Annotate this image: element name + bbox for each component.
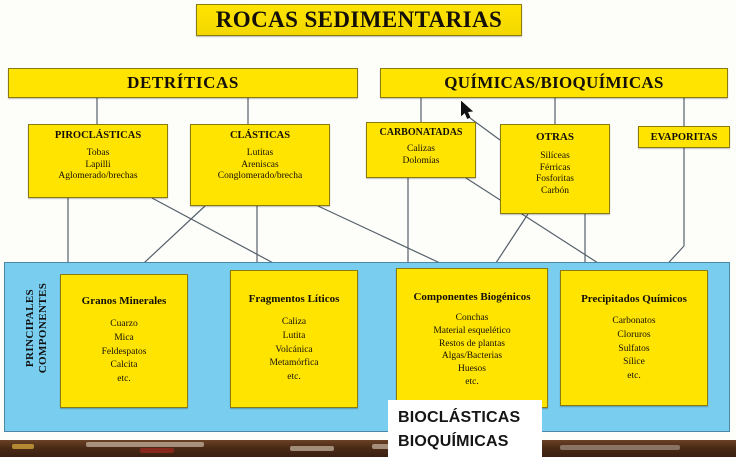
list-item: Volcánica: [231, 344, 357, 358]
list-item: Sulfatos: [561, 343, 707, 357]
node-granos-minerales-header: Granos Minerales: [61, 295, 187, 307]
list-item: Tobas: [29, 148, 167, 160]
list-item: Material esquelético: [397, 325, 547, 338]
panel-side-label-line2: COMPONENTES: [37, 264, 50, 392]
list-item: Calizas: [367, 144, 475, 156]
node-precipitados-quimicos[interactable]: Precipitados Químicos Carbonatos Cloruro…: [560, 270, 708, 406]
node-otras[interactable]: OTRAS Silíceas Férricas Fosforitas Carbó…: [500, 124, 610, 214]
diagram-title-box: ROCAS SEDIMENTARIAS: [196, 4, 522, 36]
node-otras-header: OTRAS: [501, 131, 609, 143]
list-item: Feldespatos: [61, 346, 187, 360]
mouse-cursor-arrow: [461, 101, 475, 121]
node-detriticas[interactable]: DETRÍTICAS: [8, 68, 358, 98]
list-item: Restos de plantas: [397, 338, 547, 351]
node-componentes-biogenicos[interactable]: Componentes Biogénicos Conchas Material …: [396, 268, 548, 408]
node-otras-items: Silíceas Férricas Fosforitas Carbón: [501, 151, 609, 197]
node-carbonatadas[interactable]: CARBONATADAS Calizas Dolomías: [366, 122, 476, 178]
node-fragmentos-liticos-items: Caliza Lutita Volcánica Metamórfica etc.: [231, 316, 357, 385]
node-fragmentos-liticos-header: Fragmentos Líticos: [231, 293, 357, 305]
node-carbonatadas-header: CARBONATADAS: [367, 127, 475, 138]
node-fragmentos-liticos[interactable]: Fragmentos Líticos Caliza Lutita Volcáni…: [230, 270, 358, 408]
node-detriticas-label: DETRÍTICAS: [127, 73, 239, 93]
list-item: etc.: [561, 370, 707, 384]
callout-bioclasticas-bioquimicas: BIOCLÁSTICAS BIOQUÍMICAS: [388, 400, 542, 457]
node-clasticas[interactable]: CLÁSTICAS Lutitas Areniscas Conglomerado…: [190, 124, 330, 206]
node-piroclasticas-items: Tobas Lapilli Aglomerado/brechas: [29, 148, 167, 183]
list-item: Conchas: [397, 312, 547, 325]
list-item: Lutitas: [191, 148, 329, 160]
list-item: Sílice: [561, 356, 707, 370]
list-item: etc.: [397, 376, 547, 389]
node-precipitados-quimicos-items: Carbonatos Cloruros Sulfatos Sílice etc.: [561, 315, 707, 384]
list-item: Silíceas: [501, 151, 609, 163]
list-item: Cloruros: [561, 329, 707, 343]
node-granos-minerales[interactable]: Granos Minerales Cuarzo Mica Feldespatos…: [60, 274, 188, 408]
node-quimicas-bioquimicas-label: QUÍMICAS/BIOQUÍMICAS: [444, 73, 663, 93]
list-item: Fosforitas: [501, 174, 609, 186]
node-evaporitas[interactable]: EVAPORITAS: [638, 126, 730, 148]
list-item: Metamórfica: [231, 357, 357, 371]
desk-strip: [0, 440, 736, 457]
list-item: etc.: [61, 373, 187, 387]
node-granos-minerales-items: Cuarzo Mica Feldespatos Calcita etc.: [61, 318, 187, 387]
node-clasticas-header: CLÁSTICAS: [191, 130, 329, 141]
list-item: Conglomerado/brecha: [191, 171, 329, 183]
node-clasticas-items: Lutitas Areniscas Conglomerado/brecha: [191, 148, 329, 183]
list-item: Mica: [61, 332, 187, 346]
callout-line2: BIOQUÍMICAS: [398, 430, 542, 454]
callout-line1: BIOCLÁSTICAS: [398, 406, 542, 430]
list-item: Carbón: [501, 186, 609, 198]
list-item: Areniscas: [191, 160, 329, 172]
node-piroclasticas[interactable]: PIROCLÁSTICAS Tobas Lapilli Aglomerado/b…: [28, 124, 168, 198]
node-piroclasticas-header: PIROCLÁSTICAS: [29, 130, 167, 141]
list-item: Caliza: [231, 316, 357, 330]
list-item: etc.: [231, 371, 357, 385]
panel-side-label-line1: PRINCIPALES: [24, 264, 37, 392]
node-componentes-biogenicos-header: Componentes Biogénicos: [397, 291, 547, 303]
list-item: Aglomerado/brechas: [29, 171, 167, 183]
list-item: Lapilli: [29, 160, 167, 172]
list-item: Lutita: [231, 330, 357, 344]
list-item: Huesos: [397, 363, 547, 376]
node-precipitados-quimicos-header: Precipitados Químicos: [561, 293, 707, 305]
list-item: Algas/Bacterias: [397, 350, 547, 363]
list-item: Cuarzo: [61, 318, 187, 332]
node-evaporitas-header: EVAPORITAS: [651, 132, 718, 143]
node-carbonatadas-items: Calizas Dolomías: [367, 144, 475, 167]
panel-side-label: PRINCIPALES COMPONENTES: [24, 264, 50, 392]
node-componentes-biogenicos-items: Conchas Material esquelético Restos de p…: [397, 312, 547, 389]
list-item: Calcita: [61, 359, 187, 373]
list-item: Carbonatos: [561, 315, 707, 329]
list-item: Férricas: [501, 163, 609, 175]
diagram-title: ROCAS SEDIMENTARIAS: [216, 7, 502, 33]
list-item: Dolomías: [367, 156, 475, 168]
diagram-canvas: PRINCIPALES COMPONENTES ROCAS SEDIMENTAR…: [0, 0, 736, 457]
node-quimicas-bioquimicas[interactable]: QUÍMICAS/BIOQUÍMICAS: [380, 68, 728, 98]
